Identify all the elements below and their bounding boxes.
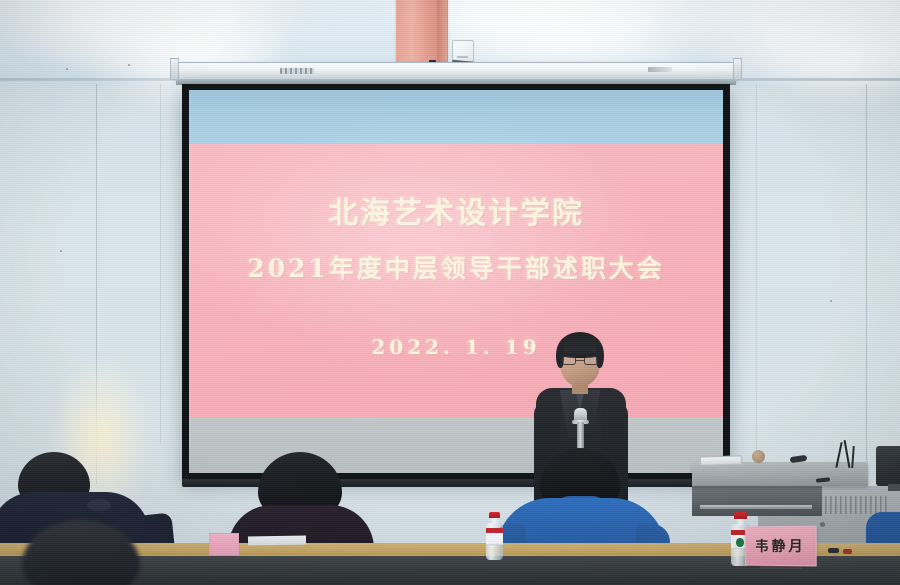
slide-body: 北海艺术设计学院 2021年度中层领导干部述职大会 2022. 1. 19: [189, 144, 723, 417]
photo-scene: 北海艺术设计学院 2021年度中层领导干部述职大会 2022. 1. 19: [0, 0, 900, 585]
marker-pen: [828, 548, 839, 553]
bottle-neck: [736, 518, 745, 525]
name-card: 韦静月: [745, 526, 817, 567]
glasses-icon: [562, 356, 598, 365]
wireless-access-point-box: [452, 40, 474, 62]
screen-housing-label: [280, 68, 314, 74]
projection-screen: 北海艺术设计学院 2021年度中层领导干部述职大会 2022. 1. 19: [182, 84, 730, 480]
wall-seam-right: [866, 84, 867, 464]
bottle-label-logo: [736, 538, 743, 547]
slide-subtitle: 2021年度中层领导干部述职大会: [189, 249, 723, 285]
bottle-neck: [490, 518, 498, 524]
round-object: [752, 450, 765, 463]
bottle-cap: [489, 512, 500, 518]
name-card-text: 韦静月: [755, 536, 806, 556]
ceiling-beam-edge: [437, 0, 447, 70]
wall-speck: [66, 68, 68, 70]
bottle-cap: [734, 512, 746, 519]
wall-seam-right-2: [756, 84, 757, 464]
slide-band-top: [189, 90, 723, 144]
podium-shelf: [692, 486, 822, 516]
screen-bracket-left: [170, 58, 179, 80]
wall-speck: [60, 250, 62, 252]
water-bottle: [486, 512, 503, 560]
bottle-label-band: [486, 528, 503, 532]
name-card-small: [209, 533, 239, 555]
desk-paper: [248, 535, 306, 545]
display-monitor: [876, 446, 900, 486]
screen-bracket-right: [733, 58, 742, 80]
marker-pen-red: [843, 549, 852, 554]
screen-housing-tab: [648, 67, 672, 72]
podium-knob: [820, 522, 825, 527]
monitor-stand: [888, 484, 900, 491]
slide-title: 北海艺术设计学院: [189, 188, 723, 232]
glasses-icon: [86, 498, 112, 512]
wall-speck: [830, 300, 832, 302]
podium-top-surface: [692, 462, 868, 486]
wall-speck: [128, 64, 130, 66]
document-stack: [700, 455, 742, 465]
slide-date: 2022. 1. 19: [189, 335, 723, 359]
podium-rail: [700, 505, 812, 509]
projection-screen-surface: 北海艺术设计学院 2021年度中层领导干部述职大会 2022. 1. 19: [189, 90, 723, 473]
